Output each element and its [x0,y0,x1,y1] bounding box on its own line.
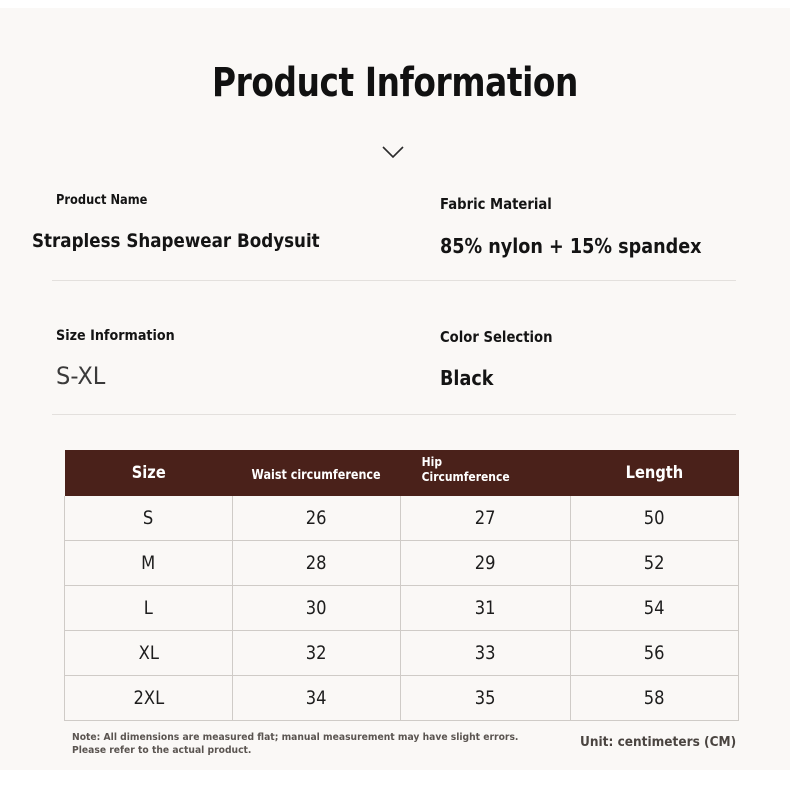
unit-label: Unit: centimeters (CM) [580,734,736,750]
section-divider [52,280,736,281]
cell-length: 52 [571,541,739,586]
cell-waist: 34 [233,676,401,721]
cell-size: XL [65,631,233,676]
spec-label: Fabric Material [440,195,702,213]
table-row: S 26 27 50 [65,496,739,541]
cell-size: S [65,496,233,541]
spec-label: Product Name [56,193,323,208]
cell-waist: 30 [233,586,401,631]
spec-size-information: Size Information S-XL [56,328,191,390]
cell-waist: 32 [233,631,401,676]
table-row: XL 32 33 56 [65,631,739,676]
spec-value: 85% nylon + 15% spandex [440,234,702,258]
spec-label: Size Information [56,328,175,344]
spec-fabric-material: Fabric Material 85% nylon + 15% spandex [440,195,737,258]
cell-waist: 28 [233,541,401,586]
measurement-note: Note: All dimensions are measured flat; … [72,731,567,758]
column-header-waist-circumference: Waist circumference [233,450,401,496]
spec-label: Color Selection [440,328,553,346]
cell-size: 2XL [65,676,233,721]
size-chart-table: Size Waist circumference Hip Circumferen… [64,450,739,721]
product-information-page: Product Information Product Name Straple… [0,8,790,770]
column-header-hip-circumference: Hip Circumference [401,450,571,496]
cell-waist: 26 [233,496,401,541]
cell-hip: 35 [401,676,571,721]
page-title: Product Information [71,60,719,106]
cell-length: 50 [571,496,739,541]
table-row: L 30 31 54 [65,586,739,631]
note-line-2: Please refer to the actual product. [72,744,527,757]
spec-product-name: Product Name Strapless Shapewear Bodysui… [56,193,359,252]
size-chart-body: S 26 27 50 M 28 29 52 L 30 31 54 XL 32 3… [65,496,739,721]
table-row: M 28 29 52 [65,541,739,586]
cell-hip: 29 [401,541,571,586]
chevron-down-icon [381,144,405,160]
cell-length: 56 [571,631,739,676]
table-header-row: Size Waist circumference Hip Circumferen… [65,450,739,496]
hip-header-line-2: Circumference [421,469,509,484]
cell-length: 54 [571,586,739,631]
cell-hip: 31 [401,586,571,631]
cell-hip: 27 [401,496,571,541]
section-divider [52,414,736,415]
cell-size: M [65,541,233,586]
cell-size: L [65,586,233,631]
spec-value: S-XL [56,362,183,390]
cell-length: 58 [571,676,739,721]
column-header-length: Length [571,450,739,496]
note-line-1: Note: All dimensions are measured flat; … [72,731,527,744]
spec-value: Black [440,366,553,390]
column-header-size: Size [65,450,233,496]
cell-hip: 33 [401,631,571,676]
spec-value: Strapless Shapewear Bodysuit [32,230,320,252]
table-row: 2XL 34 35 58 [65,676,739,721]
spec-color-selection: Color Selection Black [440,328,568,390]
hip-header-line-1: Hip [421,454,441,469]
